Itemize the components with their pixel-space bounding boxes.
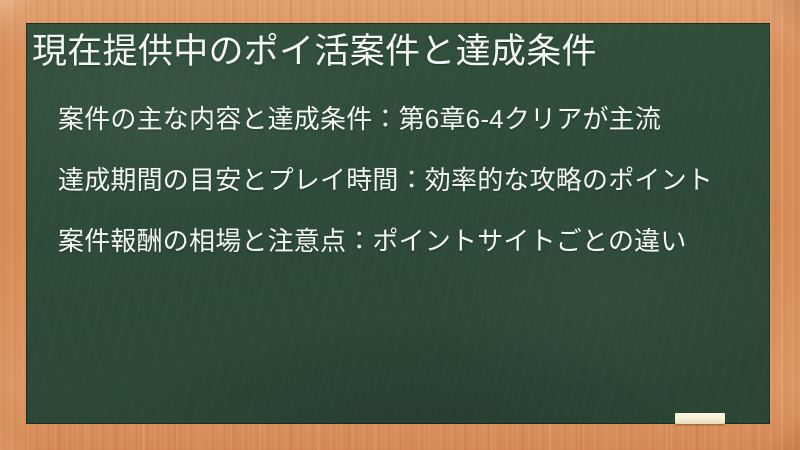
slide-title: 現在提供中のポイ活案件と達成条件 <box>32 31 752 72</box>
topic-item: 達成期間の目安とプレイ時間：効率的な攻略のポイント <box>58 162 740 200</box>
chalkboard-surface: 現在提供中のポイ活案件と達成条件 案件の主な内容と達成条件：第6章6-4クリアが… <box>26 23 770 424</box>
chalk-stick-icon <box>675 413 725 424</box>
topic-item: 案件報酬の相場と注意点：ポイントサイトごとの違い <box>58 223 740 261</box>
chalkboard-slide: 現在提供中のポイ活案件と達成条件 案件の主な内容と達成条件：第6章6-4クリアが… <box>0 0 800 450</box>
topic-item: 案件の主な内容と達成条件：第6章6-4クリアが主流 <box>58 101 740 139</box>
topic-list: 案件の主な内容と達成条件：第6章6-4クリアが主流 達成期間の目安とプレイ時間：… <box>58 101 740 261</box>
